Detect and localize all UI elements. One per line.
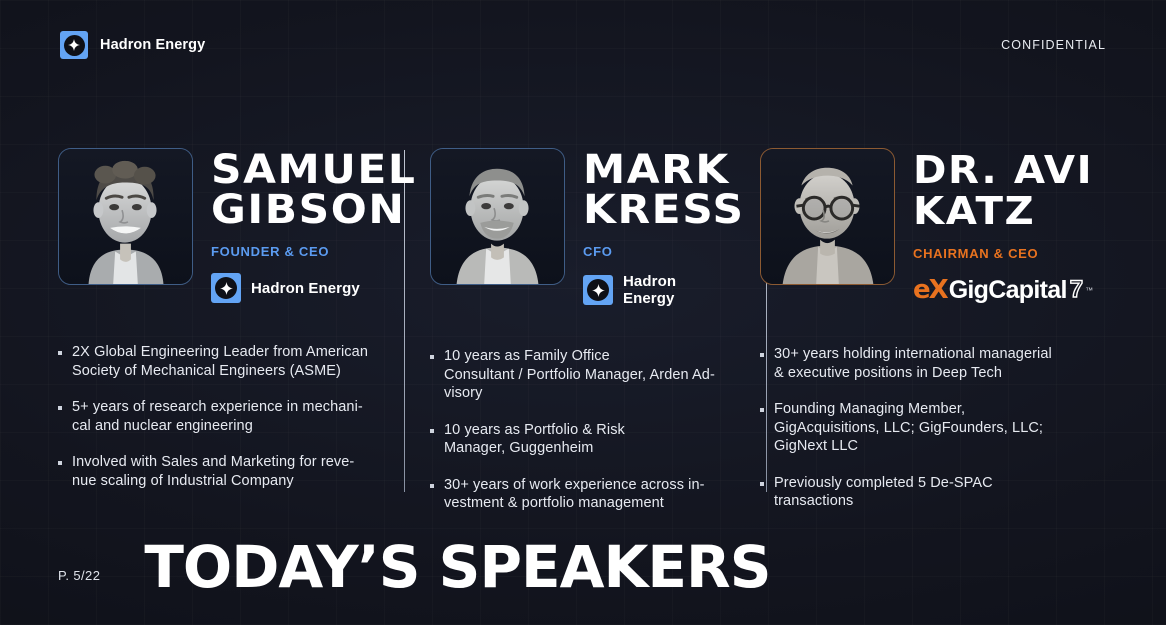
bullet-marker [760,353,764,357]
bullet-marker [430,355,434,359]
bullet-marker [760,408,764,412]
speaker-card-1: SAMUEL GIBSON FOUNDER & CEO Hadron Energ… [58,148,396,531]
speaker-1-bullets: 2X Global Engineering Leader from Americ… [58,343,396,490]
speaker-3-bullets: 30+ years holding international manageri… [760,345,1086,511]
bullet-marker [760,482,764,486]
logo-disc [64,35,85,56]
hadron-energy-logo-badge [60,31,88,59]
confidential-label: CONFIDENTIAL [1001,38,1106,52]
speaker-1-first-name: SAMUEL [211,150,407,190]
hadron-energy-logo-badge [211,273,241,303]
page-title: TODAY’S SPEAKERS [144,537,770,597]
speaker-2-company: Hadron Energy [583,273,726,307]
gigcapital-number: 7 [1070,276,1083,304]
speaker-2-photo [430,148,565,285]
speaker-2-header: MARK KRESS CFO Hadron Energy [430,148,726,307]
speaker-1-header: SAMUEL GIBSON FOUNDER & CEO Hadron Energ… [58,148,396,303]
speaker-3-role: CHAIRMAN & CEO [913,246,1086,261]
speaker-2-last-name: KRESS [583,190,735,230]
list-item: Founding Managing Member, GigAcquisition… [760,400,1086,456]
slide-header: Hadron Energy CONFIDENTIAL [0,0,1166,90]
speaker-1-company: Hadron Energy [211,273,396,303]
speaker-3-first-name: DR. AVI [913,150,1096,191]
portrait-dr-avi-katz-image [761,149,894,284]
speaker-1-role: FOUNDER & CEO [211,244,396,259]
photo-inner [59,149,192,284]
four-point-star-icon [592,284,605,297]
bullet-text: 2X Global Engineering Leader from Americ… [72,343,368,380]
page-number: P. 5/22 [58,568,100,597]
bullet-text: 5+ years of research experience in mecha… [72,398,363,435]
speaker-1-photo [58,148,193,285]
brand-name-label: Hadron Energy [100,37,205,53]
photo-inner [761,149,894,284]
speaker-2-role: CFO [583,244,726,259]
speaker-2-first-name: MARK [583,150,735,190]
list-item: 30+ years of work experience across in- … [430,476,726,513]
bullet-text: 30+ years holding international manageri… [774,345,1052,382]
speaker-3-header: DR. AVI KATZ CHAIRMAN & CEO eX GigCapita… [760,148,1086,305]
bullet-marker [58,461,62,465]
list-item: Previously completed 5 De-SPAC transacti… [760,474,1086,511]
speaker-1-info: SAMUEL GIBSON FOUNDER & CEO Hadron Energ… [211,148,396,303]
brand-logo: Hadron Energy [60,31,205,59]
bullet-text: 10 years as Portfolio & Risk Manager, Gu… [444,421,625,458]
list-item: 30+ years holding international manageri… [760,345,1086,382]
list-item: 2X Global Engineering Leader from Americ… [58,343,396,380]
portrait-samuel-gibson-image [59,149,192,284]
gigcapital-wordmark: GigCapital [949,276,1067,305]
speaker-2-company-name: Hadron Energy [623,273,726,307]
speaker-3-last-name: KATZ [913,191,1096,232]
list-item: 10 years as Portfolio & Risk Manager, Gu… [430,421,726,458]
bullet-text: Involved with Sales and Marketing for re… [72,453,354,490]
gigcapital-mark: eX [913,275,947,305]
bullet-marker [430,429,434,433]
speaker-2-info: MARK KRESS CFO Hadron Energy [583,148,726,307]
speaker-card-3: DR. AVI KATZ CHAIRMAN & CEO eX GigCapita… [726,148,1086,531]
speaker-card-2: MARK KRESS CFO Hadron Energy [396,148,726,531]
list-item: Involved with Sales and Marketing for re… [58,453,396,490]
bullet-text: Founding Managing Member, GigAcquisition… [774,400,1043,456]
hadron-energy-logo-badge [583,275,613,305]
trademark-icon: ™ [1085,286,1093,295]
speaker-3-company: eX GigCapital 7 ™ [913,275,1086,305]
bullet-marker [58,351,62,355]
bullet-marker [430,484,434,488]
speaker-3-photo [760,148,895,285]
slide-root: Hadron Energy CONFIDENTIAL [0,0,1166,625]
bullet-text: 30+ years of work experience across in- … [444,476,705,513]
slide-footer: P. 5/22 TODAY’S SPEAKERS [58,537,770,597]
photo-inner [431,149,564,284]
list-item: 10 years as Family Office Consultant / P… [430,347,726,403]
four-point-star-icon [68,39,80,51]
bullet-marker [58,406,62,410]
bullet-text: 10 years as Family Office Consultant / P… [444,347,715,403]
speakers-row: SAMUEL GIBSON FOUNDER & CEO Hadron Energ… [0,148,1166,531]
bullet-text: Previously completed 5 De-SPAC transacti… [774,474,993,511]
speaker-1-company-name: Hadron Energy [251,280,360,297]
speaker-2-bullets: 10 years as Family Office Consultant / P… [430,347,726,513]
speaker-3-info: DR. AVI KATZ CHAIRMAN & CEO eX GigCapita… [913,148,1086,305]
speaker-1-last-name: GIBSON [211,190,407,230]
logo-disc [215,277,237,299]
gigcapital7-logo: eX GigCapital 7 ™ [913,275,1093,305]
four-point-star-icon [220,282,233,295]
logo-disc [587,279,609,301]
portrait-mark-kress-image [431,149,564,284]
list-item: 5+ years of research experience in mecha… [58,398,396,435]
